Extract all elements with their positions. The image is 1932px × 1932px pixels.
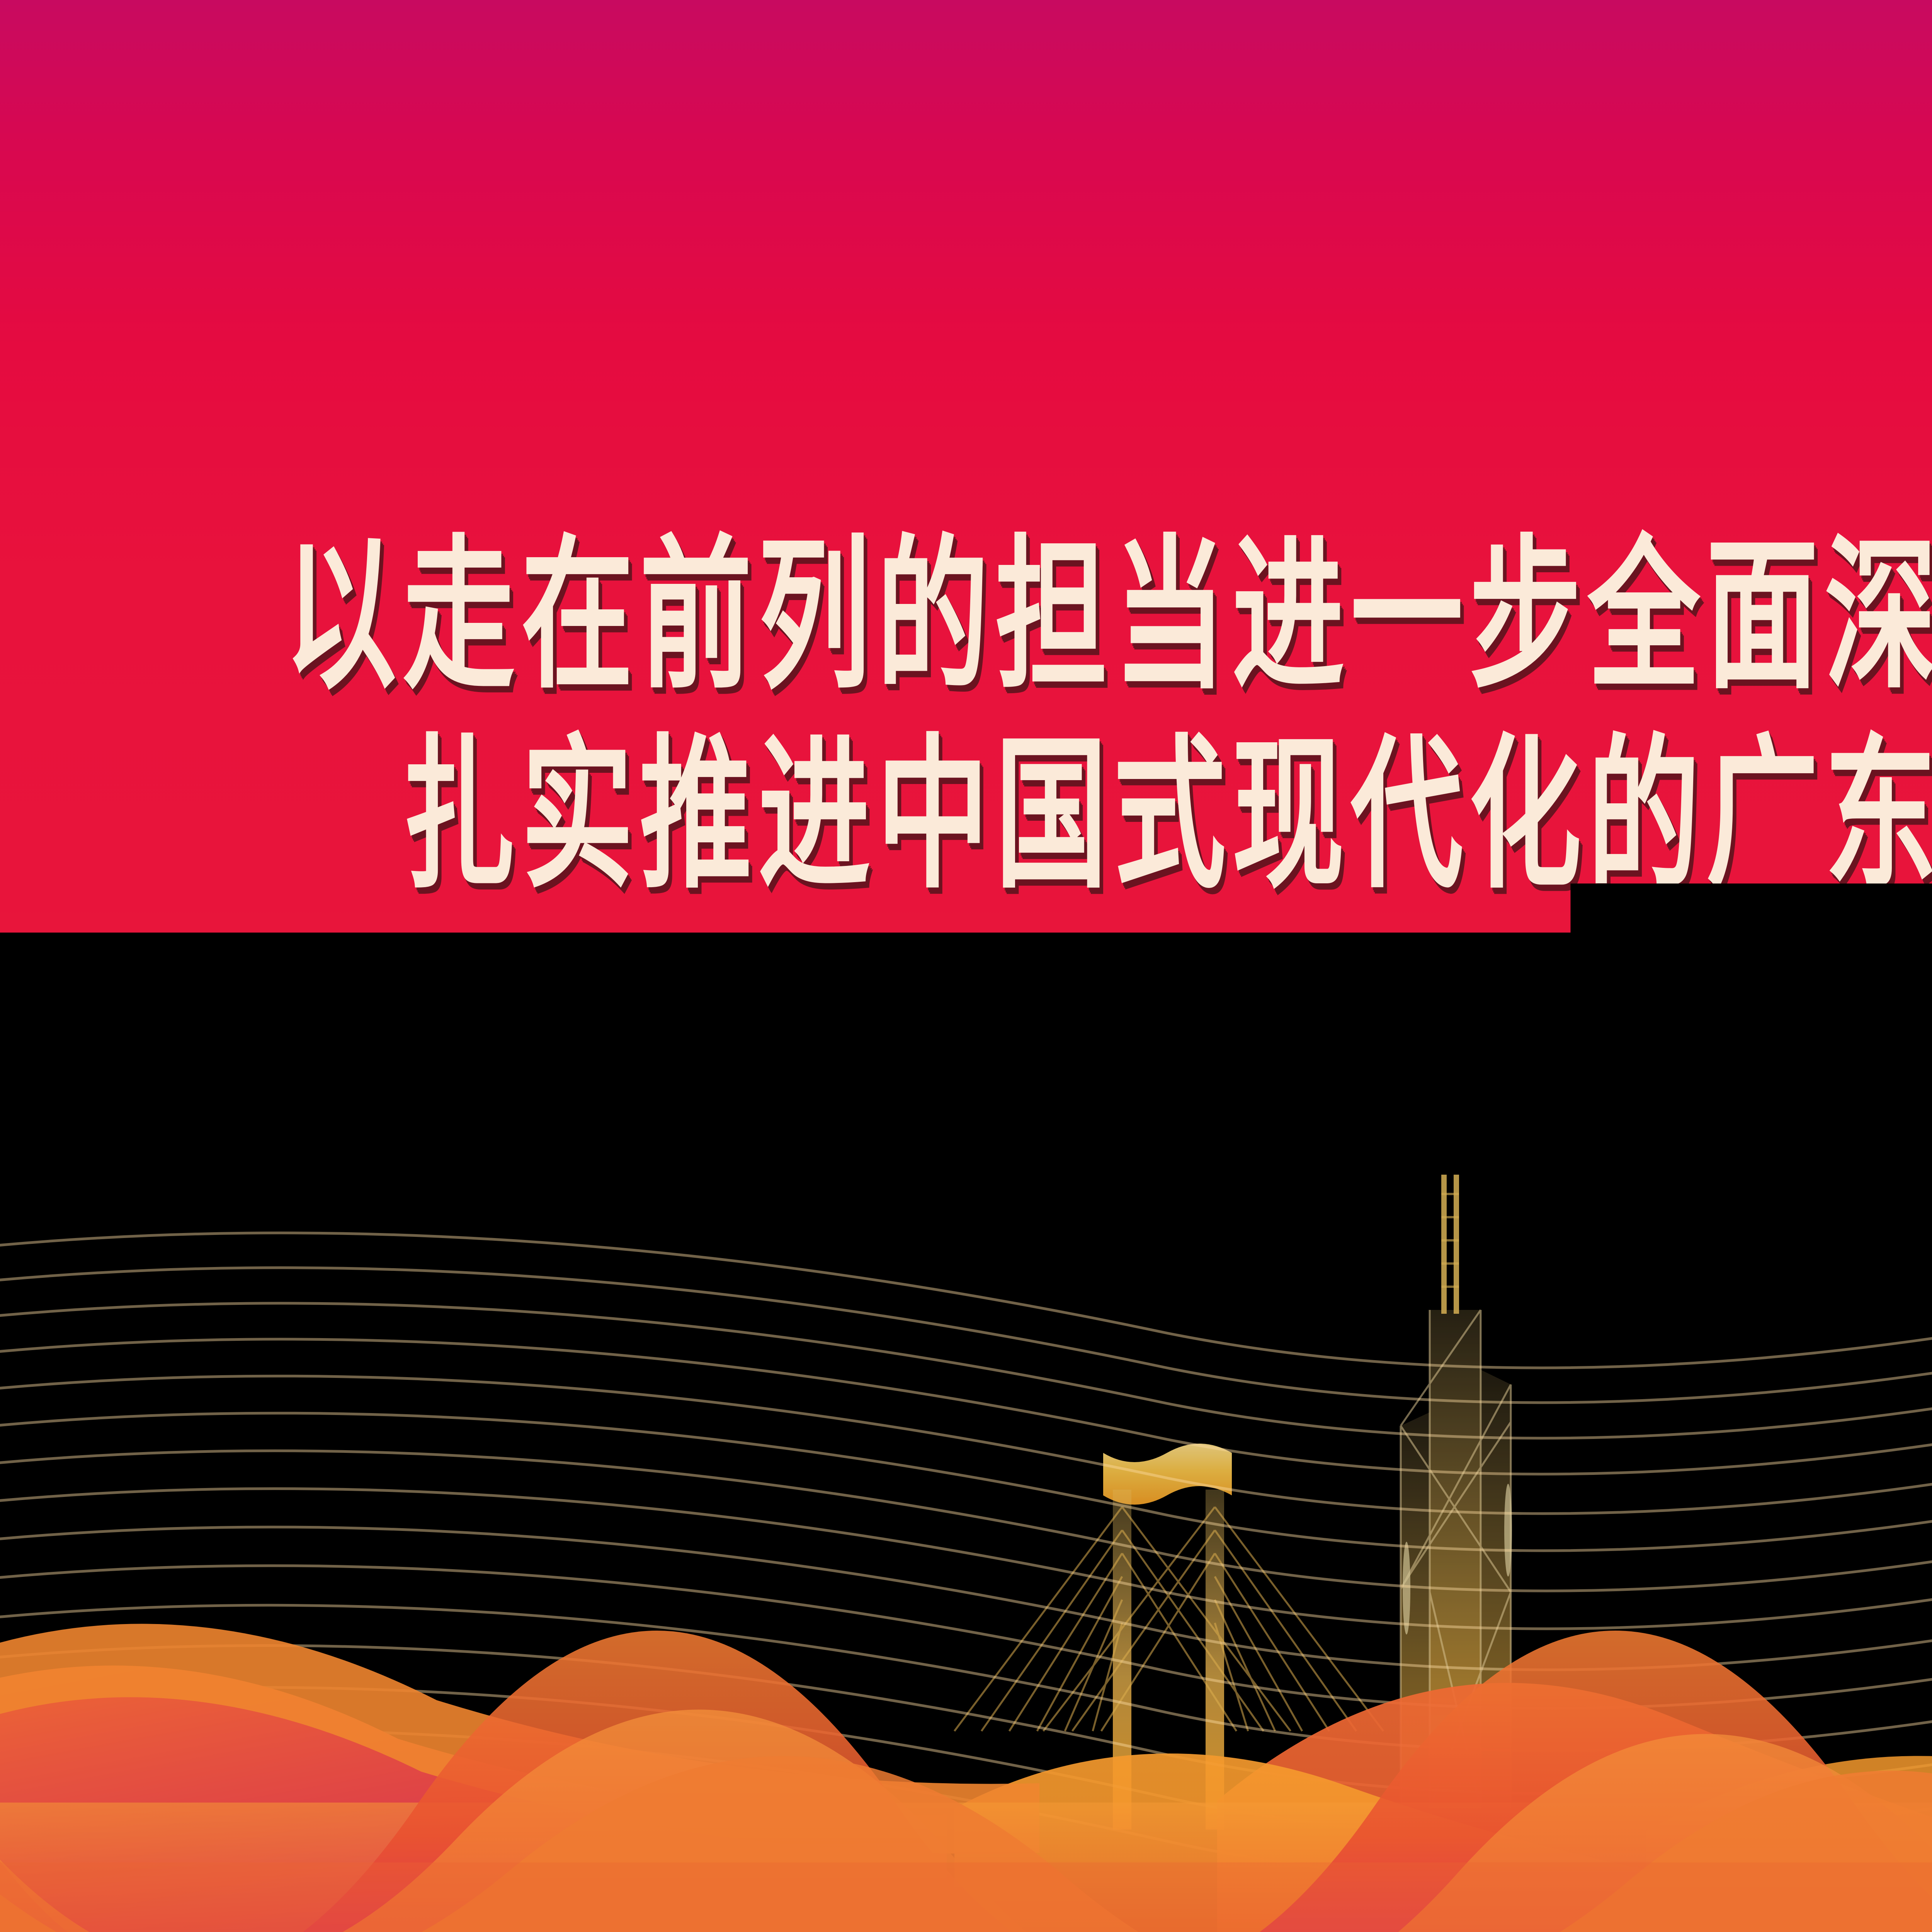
illustration-layer [0,0,1932,1932]
poster-canvas: 以走在前列的担当进一步全面深化改革 扎实推进中国式现代化的广东实践 [0,0,1932,1932]
